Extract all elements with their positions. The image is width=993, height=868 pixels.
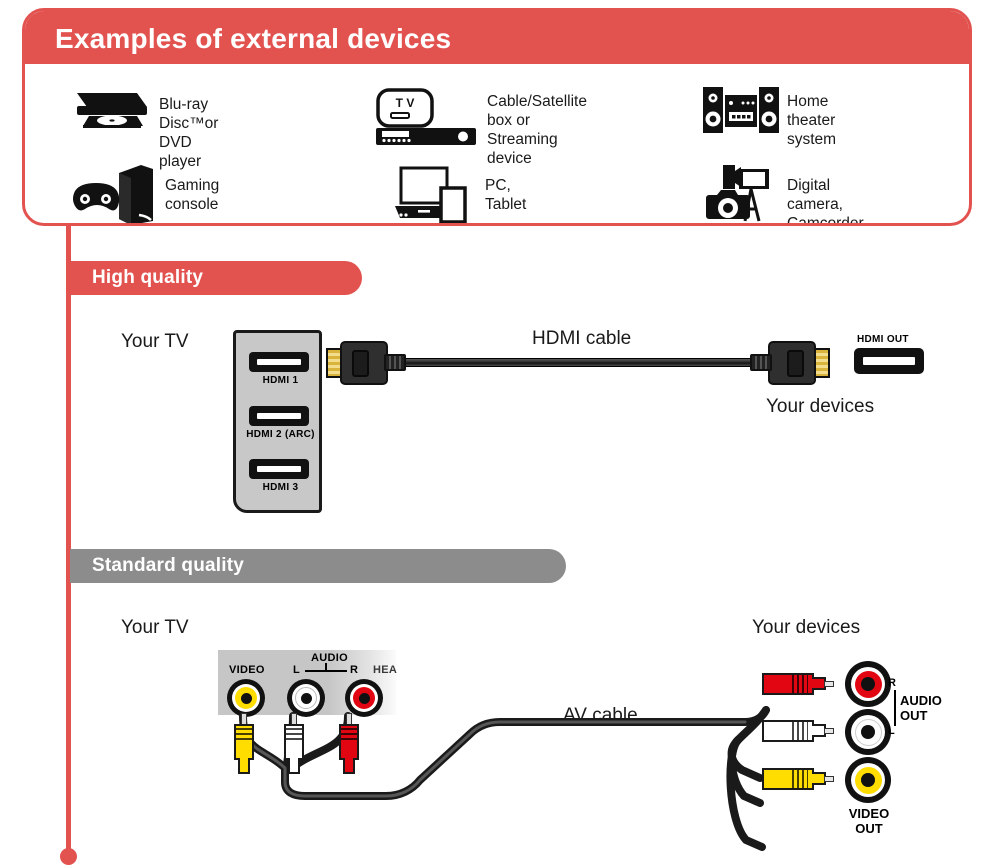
hdmi-port-1 <box>249 352 309 372</box>
gaming-console-icon <box>69 163 155 226</box>
device-video-out-jack-hole <box>861 773 875 787</box>
device-video-out-jack-ring <box>851 763 885 797</box>
rca-taper <box>238 758 250 774</box>
hdmi-plug-tv-side <box>326 341 388 385</box>
rca-grip-rings <box>286 728 302 742</box>
hdmi-plug-device-side <box>768 341 830 385</box>
av-cable-path <box>0 700 993 868</box>
device-audio-right-jack-color <box>855 671 882 698</box>
audio-out-label: AUDIO OUT <box>900 693 942 723</box>
device-video-out-jack-color <box>855 767 882 794</box>
banner-label-standard-quality: Standard quality <box>70 555 244 577</box>
hdmi-plug-inset <box>787 350 804 377</box>
label-your-tv-standard: Your TV <box>121 617 189 639</box>
section-banner-high-quality: High quality <box>70 261 362 295</box>
device-label-cable-box: Cable/Satellite box or Streaming device <box>487 92 587 168</box>
hdmi-plug-inset <box>352 350 369 377</box>
rca-plug-audio-left-tv-side <box>284 713 304 783</box>
bluray-dvd-player-icon <box>73 89 151 136</box>
rca-pin <box>824 728 834 734</box>
pc-tablet-icon <box>393 166 473 226</box>
rca-pin <box>824 681 834 687</box>
hdmi-port-1-label: HDMI 1 <box>236 375 325 386</box>
device-jack-label-right: R <box>888 677 896 689</box>
device-label-bluray: Blu-ray Disc™or DVD player <box>159 95 218 171</box>
label-hdmi-cable: HDMI cable <box>532 328 631 350</box>
rca-grip-rings <box>341 728 357 742</box>
av-panel-video-label: VIDEO <box>229 664 265 676</box>
label-your-devices-standard: Your devices <box>752 617 860 639</box>
hdmi-plug-strain-relief <box>750 354 772 371</box>
device-video-out-jack <box>845 757 891 803</box>
rca-grip-rings <box>792 770 808 788</box>
rca-grip-rings <box>792 722 808 740</box>
label-your-tv-high: Your TV <box>121 331 189 353</box>
av-panel-left-label: L <box>293 664 300 676</box>
banner-label-high-quality: High quality <box>70 267 203 289</box>
rca-grip-rings <box>236 728 252 742</box>
av-panel-audio-label: AUDIO <box>311 652 348 664</box>
device-audio-right-jack-hole <box>861 677 875 691</box>
device-audio-left-jack-ring <box>851 715 885 749</box>
hdmi-out-label: HDMI OUT <box>857 334 909 345</box>
device-label-gaming-console: Gaming console <box>165 176 219 214</box>
home-theater-system-icon <box>703 87 779 138</box>
hdmi-cable-wire <box>378 358 778 367</box>
rca-plug-audio-right-device-side <box>762 673 834 695</box>
device-audio-left-jack-hole <box>861 725 875 739</box>
label-your-devices-high: Your devices <box>766 396 874 418</box>
rca-taper <box>343 758 355 774</box>
hdmi-port-3 <box>249 459 309 479</box>
device-label-camera: Digital camera, Camcorder <box>787 176 864 226</box>
av-panel-right-label: R <box>350 664 358 676</box>
hdmi-port-3-label: HDMI 3 <box>236 482 325 493</box>
rca-pin <box>824 776 834 782</box>
device-label-pc-tablet: PC, Tablet <box>485 176 526 214</box>
external-devices-card: Examples of external devices Blu-ray Dis… <box>22 8 972 226</box>
device-audio-right-jack <box>845 661 891 707</box>
hdmi-port-2-label: HDMI 2 (ARC) <box>236 429 325 440</box>
device-jack-label-left: L <box>888 725 895 737</box>
device-audio-left-jack <box>845 709 891 755</box>
rca-plug-video-device-side <box>762 768 834 790</box>
hdmi-plug-strain-relief <box>384 354 406 371</box>
device-audio-left-jack-color <box>855 719 882 746</box>
video-out-label: VIDEO OUT <box>840 806 898 836</box>
device-hdmi-out-port <box>854 348 924 374</box>
hdmi-port-2 <box>249 406 309 426</box>
device-label-home-theater: Home theater system <box>787 92 836 149</box>
digital-camera-camcorder-icon <box>703 161 783 226</box>
rca-taper <box>288 758 300 774</box>
rca-grip-rings <box>792 675 808 693</box>
av-panel-headphone-label: HEA <box>373 664 397 676</box>
rca-plug-audio-right-tv-side <box>339 713 359 783</box>
audio-out-bracket <box>894 690 896 726</box>
tv-hdmi-port-panel: HDMI 1 HDMI 2 (ARC) HDMI 3 <box>233 330 322 513</box>
section-banner-standard-quality: Standard quality <box>70 549 566 583</box>
cable-satellite-box-icon: T V <box>375 87 477 152</box>
svg-text:T V: T V <box>396 96 415 110</box>
av-panel-audio-bracket-tick <box>325 663 327 671</box>
page-title: Examples of external devices <box>55 23 451 55</box>
rca-plug-video-tv-side <box>234 713 254 783</box>
device-audio-right-jack-ring <box>851 667 885 701</box>
rca-plug-audio-left-device-side <box>762 720 834 742</box>
